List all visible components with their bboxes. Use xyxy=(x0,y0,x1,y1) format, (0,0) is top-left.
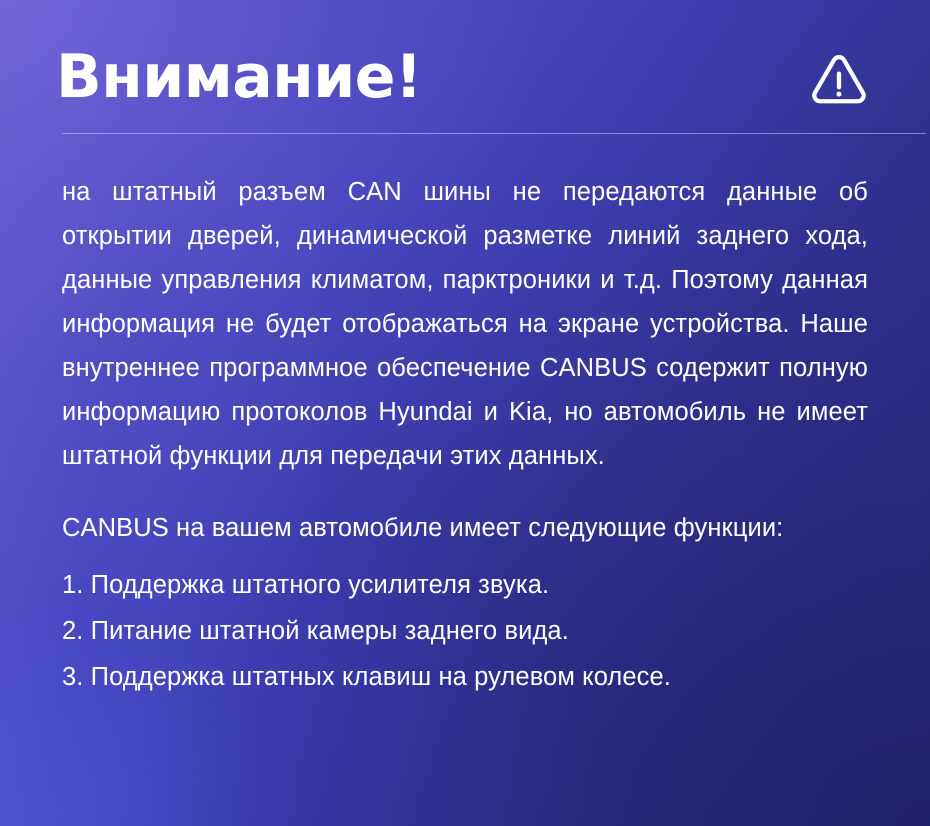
list-item: 2. Питание штатной камеры заднего вида. xyxy=(62,608,868,654)
warning-banner: Внимание! на штатный разъем CAN шины не … xyxy=(0,0,930,826)
list-item: 1. Поддержка штатного усилителя звука. xyxy=(62,562,868,608)
banner-header: Внимание! xyxy=(56,0,874,109)
features-list: 1. Поддержка штатного усилителя звука. 2… xyxy=(62,562,868,700)
banner-content: Внимание! на штатный разъем CAN шины не … xyxy=(0,0,930,700)
warning-paragraph: на штатный разъем CAN шины не передаются… xyxy=(62,170,868,478)
features-heading: CANBUS на вашем автомобиле имеет следующ… xyxy=(62,506,868,550)
header-divider xyxy=(62,133,926,134)
warning-triangle-icon xyxy=(808,47,870,109)
list-item: 3. Поддержка штатных клавиш на рулевом к… xyxy=(62,654,868,700)
features-section: CANBUS на вашем автомобиле имеет следующ… xyxy=(62,506,868,700)
page-title: Внимание! xyxy=(56,46,422,109)
